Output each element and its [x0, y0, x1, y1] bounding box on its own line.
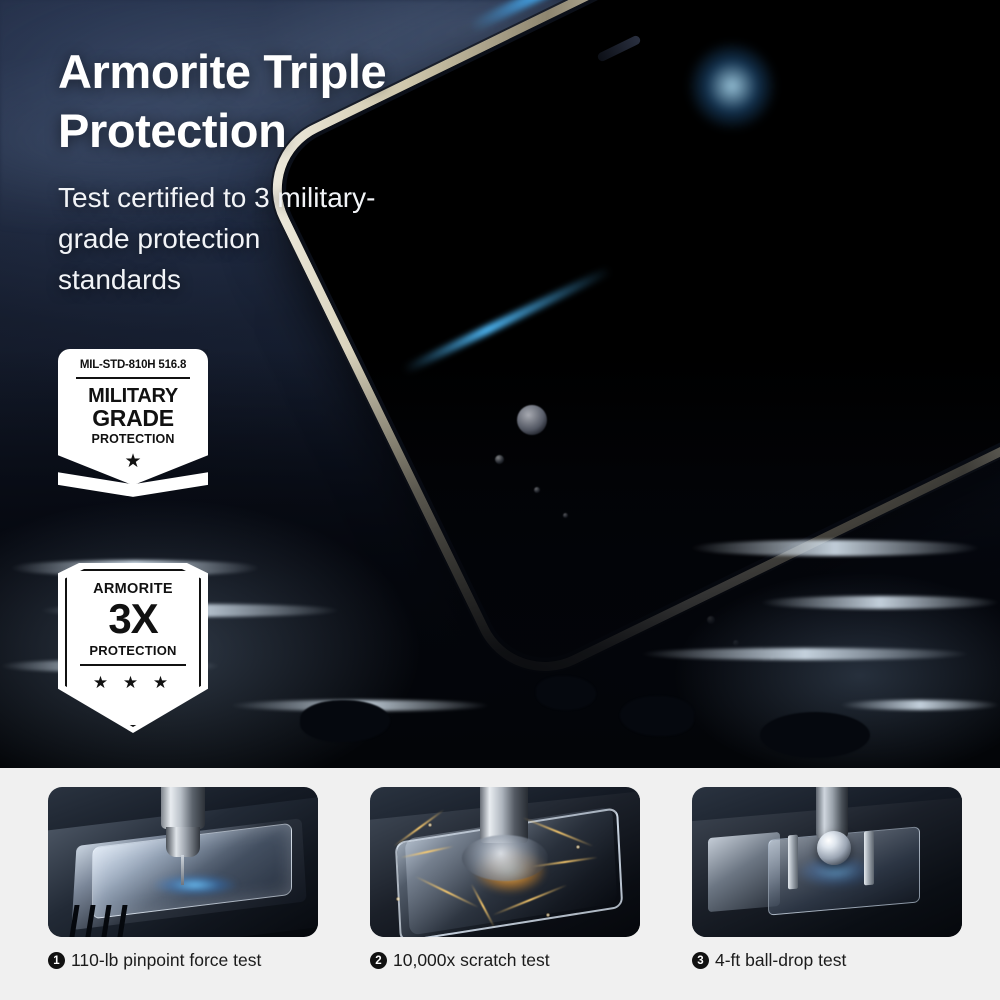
water-foam-streak: [840, 700, 1000, 710]
clamp-post: [788, 835, 798, 890]
test-caption-text: 4-ft ball-drop test: [715, 950, 846, 971]
test-caption: 3 4-ft ball-drop test: [692, 950, 962, 971]
mil-std-label: MIL-STD-810H 516.8: [66, 359, 200, 371]
foreground-rock: [300, 700, 390, 742]
spark-dot: [546, 913, 550, 917]
hero-subtitle: Test certified to 3 military-grade prote…: [58, 178, 388, 300]
military-grade-badge: MIL-STD-810H 516.8 MILITARY GRADE PROTEC…: [58, 349, 208, 502]
spark-dot: [576, 845, 580, 849]
test-caption-text: 10,000x scratch test: [393, 950, 550, 971]
military-badge-shield: MIL-STD-810H 516.8 MILITARY GRADE PROTEC…: [58, 349, 208, 485]
rim-light-flare: [672, 26, 792, 146]
test-thumbnail-strip: 1 110-lb pinpoint force test: [0, 768, 1000, 1000]
water-foam-streak: [640, 648, 970, 660]
impact-glow: [140, 871, 250, 899]
mil-line-3: PROTECTION: [66, 432, 200, 446]
test-card[interactable]: 2 10,000x scratch test: [370, 787, 640, 971]
clamp-post: [864, 831, 874, 886]
scratch-test-thumbnail[interactable]: [370, 787, 640, 937]
rig-vent-slots: [72, 905, 162, 937]
mil-star-icon: ★: [66, 452, 200, 471]
probe-collar: [166, 827, 200, 857]
test-number-badge: 1: [48, 952, 65, 969]
test-card-list: 1 110-lb pinpoint force test: [48, 787, 962, 971]
armorite-divider: [80, 664, 186, 666]
steel-wool-icon: [462, 835, 548, 881]
ball-drop-test-thumbnail[interactable]: [692, 787, 962, 937]
probe-needle-icon: [181, 855, 184, 885]
pinpoint-force-test-thumbnail[interactable]: [48, 787, 318, 937]
spark-dot: [428, 823, 432, 827]
spark-dot: [396, 897, 400, 901]
test-caption: 2 10,000x scratch test: [370, 950, 640, 971]
armorite-protection-label: PROTECTION: [66, 643, 200, 658]
hero-copy-block: Armorite Triple Protection Test certifie…: [58, 42, 488, 300]
water-foam-streak: [690, 540, 980, 556]
test-caption-text: 110-lb pinpoint force test: [71, 950, 261, 971]
mil-line-2: GRADE: [66, 407, 200, 431]
armorite-3x-badge: ARMORITE 3X PROTECTION ★ ★ ★: [58, 563, 208, 733]
water-foam-streak: [760, 596, 1000, 609]
test-number-badge: 2: [370, 952, 387, 969]
test-caption: 1 110-lb pinpoint force test: [48, 950, 318, 971]
foreground-rock: [760, 712, 870, 758]
foreground-rock: [536, 676, 596, 710]
steel-ball-icon: [817, 831, 851, 865]
mil-line-1: MILITARY: [66, 386, 200, 407]
foreground-rock: [620, 696, 694, 736]
probe-body: [161, 787, 205, 829]
mil-divider: [76, 377, 190, 379]
test-number-badge: 3: [692, 952, 709, 969]
test-card[interactable]: 1 110-lb pinpoint force test: [48, 787, 318, 971]
test-card[interactable]: 3 4-ft ball-drop test: [692, 787, 962, 971]
armorite-multiplier: 3X: [66, 598, 200, 641]
hero-title: Armorite Triple Protection: [58, 42, 488, 160]
armorite-stars-icon: ★ ★ ★: [66, 673, 200, 693]
hero-banner: Armorite Triple Protection Test certifie…: [0, 0, 1000, 768]
armorite-badge-shield: ARMORITE 3X PROTECTION ★ ★ ★: [58, 563, 208, 733]
